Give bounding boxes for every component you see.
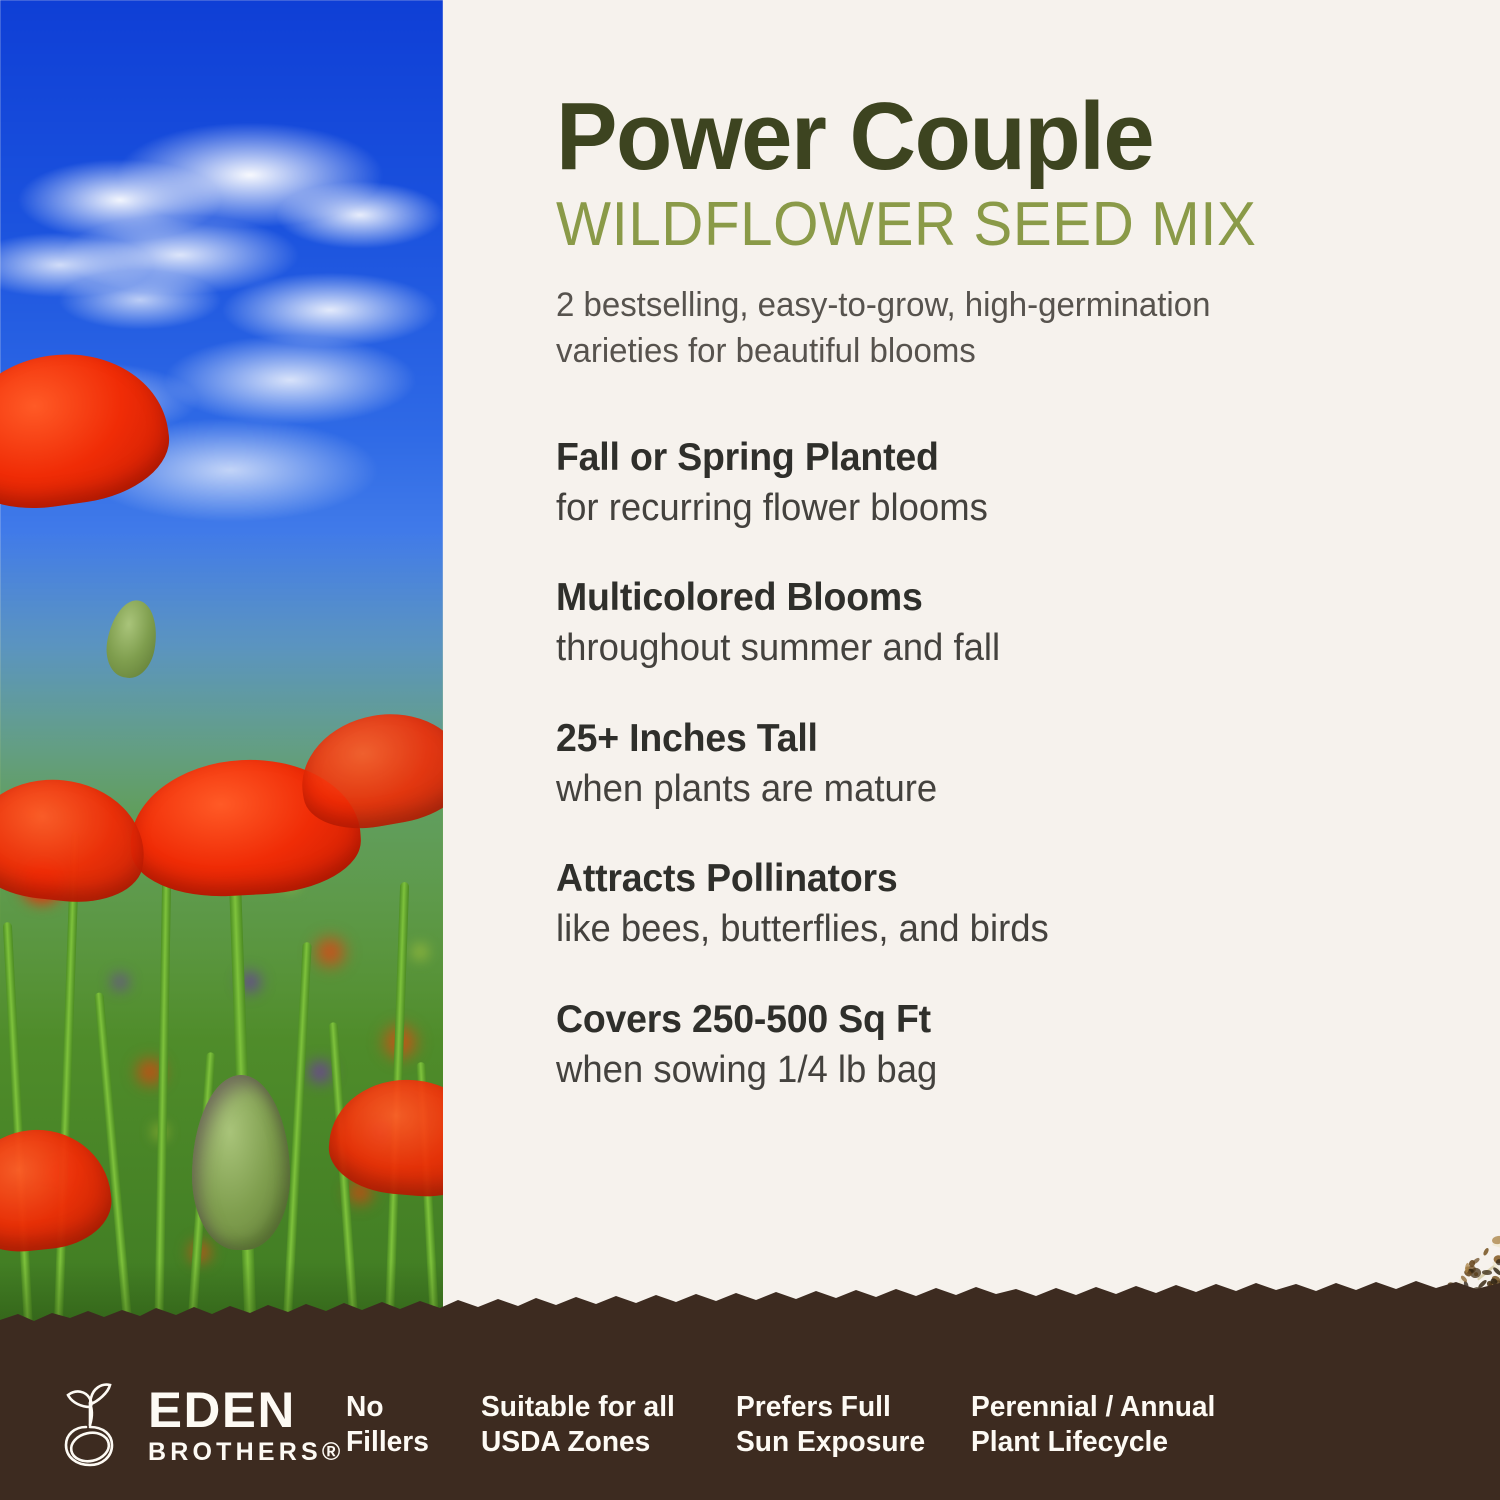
feature-heading: Covers 250-500 Sq Ft	[556, 997, 1266, 1043]
sprout-seed-icon	[46, 1377, 134, 1473]
wildflower-meadow-photo	[0, 0, 443, 1352]
badge-sun-exposure: Prefers Full Sun Exposure	[736, 1390, 964, 1461]
product-subtitle: WILDFLOWER SEED MIX	[556, 192, 1308, 257]
feature-item: Covers 250-500 Sq Ft when sowing 1/4 lb …	[556, 997, 1296, 1093]
product-infographic: Power Couple WILDFLOWER SEED MIX 2 bests…	[0, 0, 1500, 1500]
logo-wordmark-eden: EDEN	[148, 1385, 348, 1435]
eden-brothers-logo[interactable]: EDEN BROTHERS®	[46, 1377, 346, 1473]
content-panel: Power Couple WILDFLOWER SEED MIX 2 bests…	[443, 0, 1500, 1500]
feature-item: Attracts Pollinators like bees, butterfl…	[556, 856, 1296, 952]
footer-bar: EDEN BROTHERS® No Fillers Suitable for a…	[0, 1350, 1500, 1500]
badge-plant-lifecycle: Perennial / Annual Plant Lifecycle	[971, 1390, 1262, 1461]
feature-description: when sowing 1/4 lb bag	[556, 1047, 1266, 1093]
header-block: Power Couple WILDFLOWER SEED MIX 2 bests…	[556, 88, 1356, 375]
feature-item: Fall or Spring Planted for recurring flo…	[556, 435, 1296, 531]
badge-no-fillers: No Fillers	[346, 1390, 477, 1461]
feature-description: like bees, butterflies, and birds	[556, 906, 1266, 952]
badge-usda-zones: Suitable for all USDA Zones	[481, 1390, 728, 1461]
logo-wordmark-brothers: BROTHERS®	[148, 1440, 345, 1465]
feature-item: Multicolored Blooms throughout summer an…	[556, 575, 1296, 671]
footer-badges: No Fillers Suitable for all USDA Zones P…	[346, 1390, 1500, 1461]
feature-heading: Multicolored Blooms	[556, 575, 1266, 621]
feature-heading: 25+ Inches Tall	[556, 716, 1266, 762]
feature-description: for recurring flower blooms	[556, 485, 1266, 531]
torn-edge-shape	[0, 1280, 1500, 1350]
feature-item: 25+ Inches Tall when plants are mature	[556, 716, 1296, 812]
feature-description: throughout summer and fall	[556, 625, 1266, 671]
product-lede: 2 bestselling, easy-to-grow, high-germin…	[556, 283, 1293, 375]
feature-heading: Fall or Spring Planted	[556, 435, 1266, 481]
feature-description: when plants are mature	[556, 766, 1266, 812]
feature-list: Fall or Spring Planted for recurring flo…	[556, 435, 1296, 1093]
torn-paper-edge	[0, 1280, 1500, 1350]
feature-heading: Attracts Pollinators	[556, 856, 1266, 902]
product-title: Power Couple	[556, 88, 1324, 186]
